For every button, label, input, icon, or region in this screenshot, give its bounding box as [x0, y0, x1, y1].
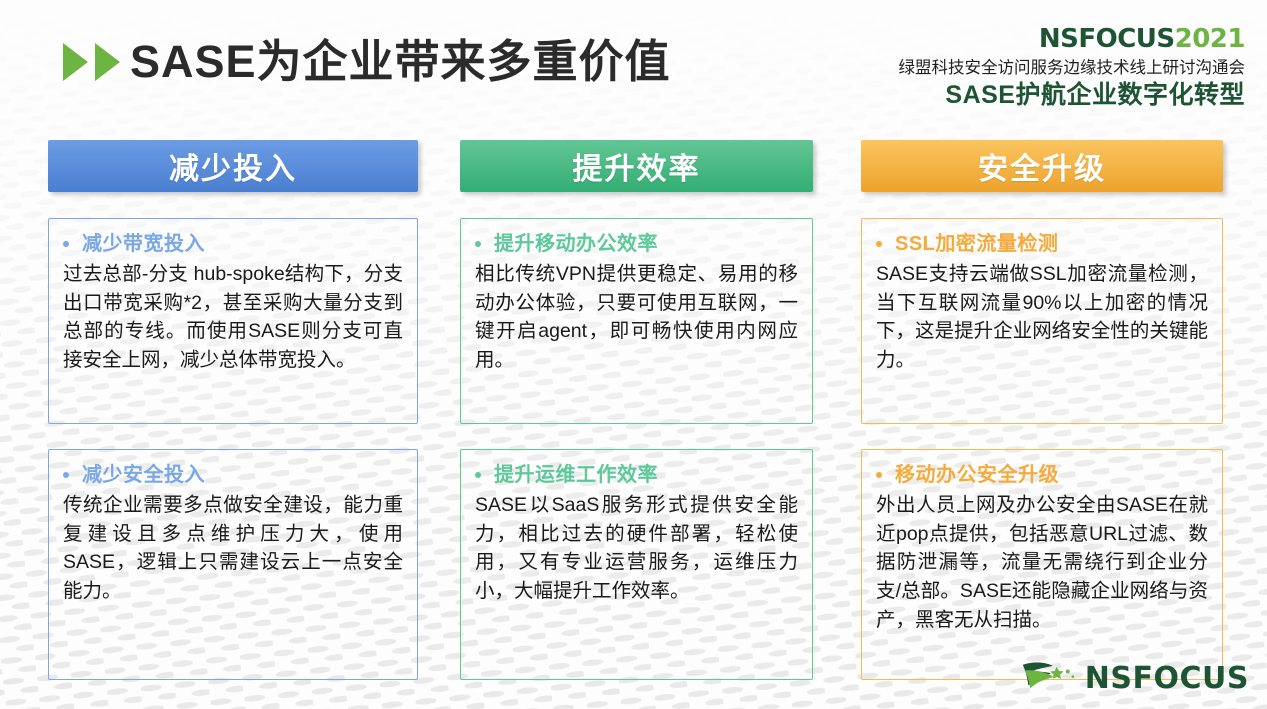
card-body: 相比传统VPN提供更稳定、易用的移动办公体验，只要可使用互联网，一键开启agen… [475, 260, 798, 375]
value-columns: 减少投入 减少带宽投入 过去总部-分支 hub-spoke结构下，分支出口带宽采… [0, 140, 1267, 685]
nsfocus-logo-text: NSFOCUS [1085, 661, 1249, 696]
column-improve-efficiency: 提升效率 提升移动办公效率 相比传统VPN提供更稳定、易用的移动办公体验，只要可… [460, 140, 813, 680]
card-reduce-security-investment: 减少安全投入 传统企业需要多点做安全建设，能力重复建设且多点维护压力大，使用SA… [48, 449, 418, 680]
footer-logo: NSFOCUS [1019, 659, 1249, 697]
card-body: SASE以SaaS服务形式提供安全能力，相比过去的硬件部署，轻松使用，又有专业运… [475, 491, 798, 606]
card-header: 移动办公安全升级 [876, 461, 1208, 489]
card-header: SSL加密流量检测 [876, 230, 1208, 258]
bullet-icon [876, 472, 882, 478]
brand-block: NSFOCUS2021 绿盟科技安全访问服务边缘技术线上研讨沟通会 SASE护航… [899, 26, 1246, 108]
column-header-security-upgrade: 安全升级 [861, 140, 1223, 192]
slide-canvas: SASE为企业带来多重价值 NSFOCUS2021 绿盟科技安全访问服务边缘技术… [0, 0, 1267, 709]
card-header: 提升运维工作效率 [475, 461, 798, 489]
card-ops-efficiency: 提升运维工作效率 SASE以SaaS服务形式提供安全能力，相比过去的硬件部署，轻… [460, 449, 813, 680]
brand-year: 2021 [1175, 24, 1245, 54]
event-subtitle: 绿盟科技安全访问服务边缘技术线上研讨沟通会 [899, 60, 1246, 77]
card-header: 提升移动办公效率 [475, 230, 798, 258]
card-body: 外出人员上网及办公安全由SASE在就近pop点提供，包括恶意URL过滤、数据防泄… [876, 491, 1208, 634]
slide-header: SASE为企业带来多重价值 NSFOCUS2021 绿盟科技安全访问服务边缘技术… [0, 0, 1267, 128]
brand-name: NSFOCUS [1039, 24, 1175, 54]
bullet-icon [63, 241, 69, 247]
card-list-improve-efficiency: 提升移动办公效率 相比传统VPN提供更稳定、易用的移动办公体验，只要可使用互联网… [460, 218, 813, 680]
card-list-security-upgrade: SSL加密流量检测 SASE支持云端做SSL加密流量检测，当下互联网流量90%以… [861, 218, 1223, 680]
card-title: 提升移动办公效率 [494, 230, 658, 258]
chevron-right-icon-1 [63, 43, 88, 81]
card-list-reduce-investment: 减少带宽投入 过去总部-分支 hub-spoke结构下，分支出口带宽采购*2，甚… [48, 218, 418, 680]
double-chevron-right-icon [63, 43, 120, 81]
card-title: 提升运维工作效率 [494, 461, 658, 489]
card-title: 减少带宽投入 [82, 230, 205, 258]
bullet-icon [876, 241, 882, 247]
card-body: 过去总部-分支 hub-spoke结构下，分支出口带宽采购*2，甚至采购大量分支… [63, 260, 403, 375]
brand-name-year: NSFOCUS2021 [899, 26, 1246, 53]
chevron-right-icon-2 [95, 43, 120, 81]
bullet-icon [475, 472, 481, 478]
bullet-icon [475, 241, 481, 247]
bullet-icon [63, 472, 69, 478]
card-mobile-office-security: 移动办公安全升级 外出人员上网及办公安全由SASE在就近pop点提供，包括恶意U… [861, 449, 1223, 680]
column-header-improve-efficiency: 提升效率 [460, 140, 813, 192]
card-body: SASE支持云端做SSL加密流量检测，当下互联网流量90%以上加密的情况下，这是… [876, 260, 1208, 375]
column-reduce-investment: 减少投入 减少带宽投入 过去总部-分支 hub-spoke结构下，分支出口带宽采… [48, 140, 418, 680]
card-mobile-office-efficiency: 提升移动办公效率 相比传统VPN提供更稳定、易用的移动办公体验，只要可使用互联网… [460, 218, 813, 424]
card-title: 移动办公安全升级 [895, 461, 1059, 489]
card-ssl-inspection: SSL加密流量检测 SASE支持云端做SSL加密流量检测，当下互联网流量90%以… [861, 218, 1223, 424]
card-body: 传统企业需要多点做安全建设，能力重复建设且多点维护压力大，使用SASE，逻辑上只… [63, 491, 403, 606]
nsfocus-swoosh-icon [1019, 659, 1079, 697]
column-header-reduce-investment: 减少投入 [48, 140, 418, 192]
card-title: SSL加密流量检测 [895, 230, 1058, 258]
card-header: 减少安全投入 [63, 461, 403, 489]
card-header: 减少带宽投入 [63, 230, 403, 258]
column-security-upgrade: 安全升级 SSL加密流量检测 SASE支持云端做SSL加密流量检测，当下互联网流… [861, 140, 1223, 680]
card-reduce-bandwidth: 减少带宽投入 过去总部-分支 hub-spoke结构下，分支出口带宽采购*2，甚… [48, 218, 418, 424]
event-title: SASE护航企业数字化转型 [899, 82, 1246, 108]
page-title: SASE为企业带来多重价值 [130, 25, 671, 90]
card-title: 减少安全投入 [82, 461, 205, 489]
